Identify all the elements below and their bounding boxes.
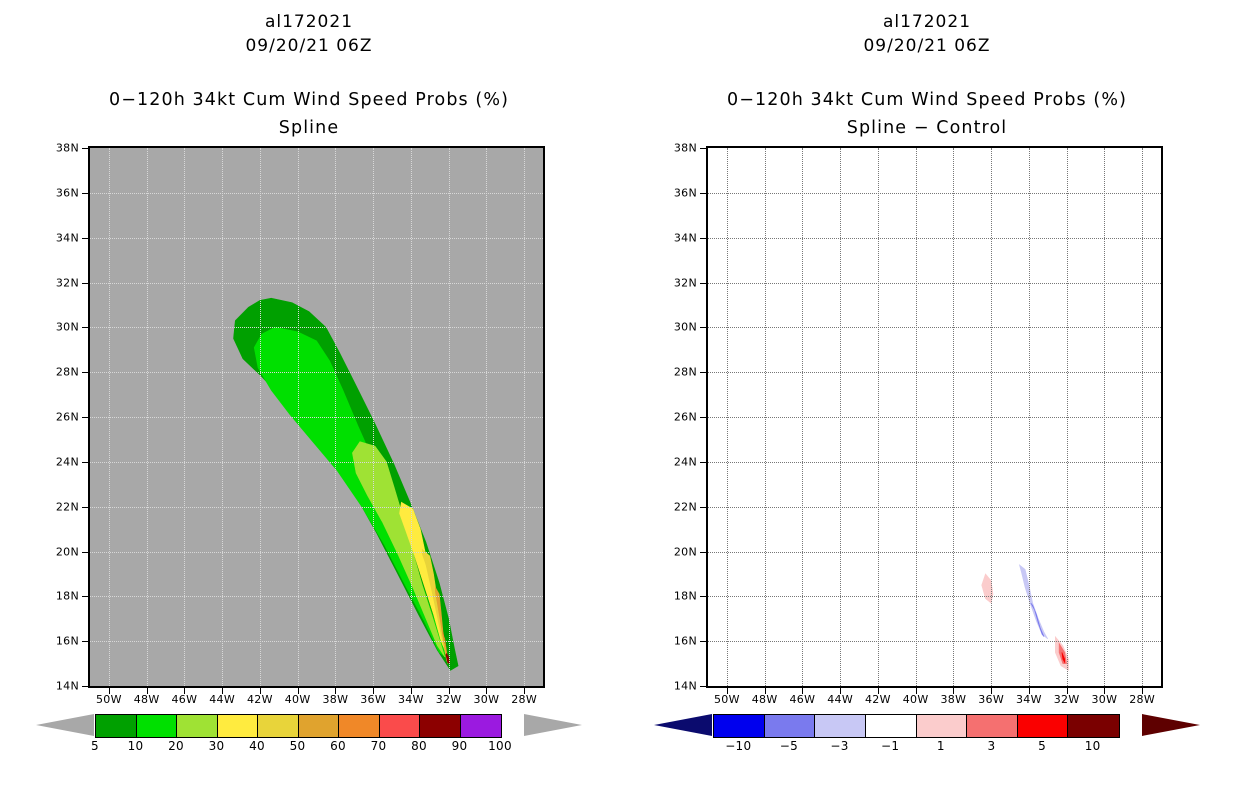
x-axis-tick-32W [1067,688,1068,694]
gridline-lon-34 [1029,148,1030,686]
gridline-lon-36 [373,148,374,686]
x-axis-label-48W: 48W [134,693,160,706]
y-axis-tick-24N [82,462,88,463]
colorbar-tick-minus5: −5 [780,739,798,753]
colorbar-right-arrow [524,714,582,736]
panel-spline: al172021 09/20/21 06Z 0−120h 34kt Cum Wi… [0,0,618,800]
y-axis-label-22N: 22N [56,500,79,513]
y-axis-tick-18N [700,596,706,597]
gridline-lon-42 [260,148,261,686]
gridline-lon-46 [184,148,185,686]
map-plot-spline[interactable] [88,146,545,688]
gridline-lat-32 [708,283,1161,284]
x-axis-label-32W: 32W [436,693,462,706]
y-axis-label-36N: 36N [674,186,697,199]
gridline-lon-48 [147,148,148,686]
y-axis-tick-22N [82,507,88,508]
x-axis-label-38W: 38W [940,693,966,706]
colorbar-tick-5: 5 [1038,739,1046,753]
x-axis-tick-38W [953,688,954,694]
y-axis-label-32N: 32N [56,276,79,289]
gridline-lon-44 [840,148,841,686]
y-axis-tick-38N [700,148,706,149]
x-axis-tick-30W [486,688,487,694]
colorbar-tick-5: 5 [91,739,99,753]
gridline-lat-18 [90,596,543,597]
x-axis-tick-46W [802,688,803,694]
gridline-lon-32 [1067,148,1068,686]
colorbar-cells-probability[interactable] [95,714,502,738]
x-axis-label-34W: 34W [398,693,424,706]
colorbar-swatch-30-40[interactable] [218,715,259,737]
gridline-lat-26 [708,417,1161,418]
y-axis-label-26N: 26N [674,411,697,424]
y-axis-label-36N: 36N [56,186,79,199]
x-axis-label-42W: 42W [247,693,273,706]
y-axis-tick-30N [700,327,706,328]
colorbar-tick-70: 70 [371,739,387,753]
x-axis-label-40W: 40W [903,693,929,706]
gridline-lon-50 [109,148,110,686]
gridline-lon-48 [765,148,766,686]
colorbar-swatch-40-50[interactable] [258,715,299,737]
x-axis-tick-48W [147,688,148,694]
colorbar-tick-60: 60 [330,739,346,753]
y-axis-tick-14N [82,686,88,687]
colorbar-tick-100: 100 [488,739,512,753]
x-axis-tick-50W [109,688,110,694]
gridline-lat-30 [90,327,543,328]
y-axis-label-18N: 18N [674,590,697,603]
gridline-lon-30 [486,148,487,686]
map-plot-difference[interactable] [706,146,1163,688]
colorbar-swatch-20-30[interactable] [177,715,218,737]
colorbar-tick-3: 3 [987,739,995,753]
y-axis-tick-26N [82,417,88,418]
colorbar-swatch-3-5[interactable] [967,715,1018,737]
contour-band-20-30 [352,442,444,657]
x-axis-label-46W: 46W [171,693,197,706]
gridline-lat-18 [708,596,1161,597]
y-axis-label-24N: 24N [56,455,79,468]
datetime-right: 09/20/21 06Z [618,36,1236,56]
gridline-lat-34 [708,238,1161,239]
x-axis-tick-46W [184,688,185,694]
x-axis-label-42W: 42W [865,693,891,706]
gridline-lat-36 [90,193,543,194]
y-axis-label-22N: 22N [674,500,697,513]
x-axis-label-28W: 28W [511,693,537,706]
colorbar-swatch--3--1[interactable] [815,715,866,737]
y-axis-label-28N: 28N [56,366,79,379]
x-axis-tick-30W [1104,688,1105,694]
y-axis-tick-14N [700,686,706,687]
colorbar-swatch-5-10[interactable] [1018,715,1069,737]
gridline-lat-32 [90,283,543,284]
x-axis-label-48W: 48W [752,693,778,706]
chart-title-left: 0−120h 34kt Cum Wind Speed Probs (%) [0,90,618,110]
x-axis-tick-42W [878,688,879,694]
x-axis-tick-28W [1142,688,1143,694]
x-axis-label-44W: 44W [209,693,235,706]
y-axis-tick-24N [700,462,706,463]
gridline-lon-34 [411,148,412,686]
colorbar-left-arrow-diff [654,714,712,736]
gridline-lon-36 [991,148,992,686]
y-axis-tick-36N [82,193,88,194]
colorbar-swatch-60-70[interactable] [339,715,380,737]
x-axis-tick-48W [765,688,766,694]
y-axis-label-38N: 38N [56,142,79,155]
gridline-lat-26 [90,417,543,418]
storm-id-left: al172021 [0,12,618,32]
panel-spline-minus-control: al172021 09/20/21 06Z 0−120h 34kt Cum Wi… [618,0,1236,800]
y-axis-label-14N: 14N [56,680,79,693]
gridline-lat-28 [708,372,1161,373]
y-axis-label-16N: 16N [56,635,79,648]
y-axis-tick-32N [82,283,88,284]
gridline-lon-38 [335,148,336,686]
colorbar-swatch--1-1[interactable] [866,715,917,737]
gridline-lat-30 [708,327,1161,328]
gridline-lon-40 [298,148,299,686]
x-axis-tick-42W [260,688,261,694]
colorbar-difference[interactable]: −10−5−3−113510 [618,714,1236,774]
colorbar-cells-difference[interactable] [713,714,1120,738]
colorbar-swatch-10+[interactable] [1068,715,1119,737]
gridline-lat-24 [708,462,1161,463]
x-axis-label-34W: 34W [1016,693,1042,706]
gridline-lat-22 [708,507,1161,508]
colorbar-swatch-5-10[interactable] [96,715,137,737]
y-axis-label-24N: 24N [674,455,697,468]
x-axis-tick-36W [373,688,374,694]
gridline-lat-20 [708,552,1161,553]
chart-title-right: 0−120h 34kt Cum Wind Speed Probs (%) [618,90,1236,110]
x-axis-tick-44W [222,688,223,694]
colorbar-swatch-10-20[interactable] [137,715,178,737]
colorbar-swatch-80-90[interactable] [420,715,461,737]
colorbar-tick-minus10: −10 [725,739,751,753]
y-axis-label-32N: 32N [674,276,697,289]
x-axis-label-32W: 32W [1054,693,1080,706]
colorbar-tick-90: 90 [452,739,468,753]
gridline-lon-40 [916,148,917,686]
colorbar-tick-40: 40 [249,739,265,753]
colorbar-tick-20: 20 [168,739,184,753]
gridline-lon-28 [524,148,525,686]
colorbar-tick-10: 10 [1085,739,1101,753]
x-axis-label-36W: 36W [360,693,386,706]
colorbar-tick-80: 80 [411,739,427,753]
gridline-lon-30 [1104,148,1105,686]
x-axis-tick-40W [298,688,299,694]
y-axis-label-20N: 20N [674,545,697,558]
colorbar-tick-50: 50 [290,739,306,753]
x-axis-label-30W: 30W [473,693,499,706]
y-axis-label-14N: 14N [674,680,697,693]
y-axis-label-30N: 30N [56,321,79,334]
y-axis-label-26N: 26N [56,411,79,424]
y-axis-label-34N: 34N [56,231,79,244]
storm-id-right: al172021 [618,12,1236,32]
gridline-lat-34 [90,238,543,239]
y-axis-label-16N: 16N [674,635,697,648]
gridline-lat-24 [90,462,543,463]
colorbar-ticks-difference: −10−5−3−113510 [618,739,1236,759]
y-axis-tick-34N [82,238,88,239]
x-axis-tick-36W [991,688,992,694]
x-axis-tick-40W [916,688,917,694]
gridline-lon-42 [878,148,879,686]
y-axis-tick-20N [82,552,88,553]
y-axis-tick-26N [700,417,706,418]
colorbar-tick-minus1: −1 [881,739,899,753]
x-axis-tick-34W [411,688,412,694]
x-axis-label-36W: 36W [978,693,1004,706]
x-axis-label-28W: 28W [1129,693,1155,706]
x-axis-tick-28W [524,688,525,694]
gridline-lat-28 [90,372,543,373]
colorbar-left-arrow [36,714,94,736]
colorbar-probability[interactable]: 5102030405060708090100 [0,714,618,774]
colorbar-swatch-90-100[interactable] [461,715,502,737]
y-axis-label-28N: 28N [674,366,697,379]
y-axis-tick-22N [700,507,706,508]
gridline-lat-20 [90,552,543,553]
colorbar-tick-10: 10 [128,739,144,753]
y-axis-label-38N: 38N [674,142,697,155]
colorbar-swatch--10--5[interactable] [714,715,765,737]
y-axis-tick-36N [700,193,706,194]
y-axis-tick-30N [82,327,88,328]
gridline-lon-46 [802,148,803,686]
colorbar-swatch-70-80[interactable] [380,715,421,737]
y-axis-tick-20N [700,552,706,553]
gridline-lat-36 [708,193,1161,194]
y-axis-label-20N: 20N [56,545,79,558]
colorbar-tick-1: 1 [937,739,945,753]
x-axis-tick-44W [840,688,841,694]
colorbar-ticks-probability: 5102030405060708090100 [0,739,618,759]
y-axis-tick-32N [700,283,706,284]
datetime-left: 09/20/21 06Z [0,36,618,56]
x-axis-tick-38W [335,688,336,694]
chart-subtitle-right: Spline − Control [618,118,1236,138]
x-axis-label-30W: 30W [1091,693,1117,706]
colorbar-swatch--5--3[interactable] [765,715,816,737]
x-axis-tick-32W [449,688,450,694]
x-axis-tick-34W [1029,688,1030,694]
gridline-lat-16 [708,641,1161,642]
y-axis-tick-16N [700,641,706,642]
gridline-lat-16 [90,641,543,642]
gridline-lon-50 [727,148,728,686]
y-axis-label-34N: 34N [674,231,697,244]
y-axis-tick-16N [82,641,88,642]
gridline-lon-28 [1142,148,1143,686]
contour-band--3--1 [1019,565,1047,639]
gridline-lat-22 [90,507,543,508]
chart-subtitle-left: Spline [0,118,618,138]
y-axis-label-18N: 18N [56,590,79,603]
x-axis-label-44W: 44W [827,693,853,706]
y-axis-tick-38N [82,148,88,149]
colorbar-tick-30: 30 [209,739,225,753]
colorbar-right-arrow-diff [1142,714,1200,736]
x-axis-label-50W: 50W [96,693,122,706]
y-axis-tick-28N [82,372,88,373]
y-axis-tick-18N [82,596,88,597]
y-axis-label-30N: 30N [674,321,697,334]
x-axis-tick-50W [727,688,728,694]
colorbar-tick-minus3: −3 [830,739,848,753]
gridline-lon-38 [953,148,954,686]
gridline-lon-44 [222,148,223,686]
x-axis-label-40W: 40W [285,693,311,706]
colorbar-swatch-1-3[interactable] [917,715,968,737]
colorbar-swatch-50-60[interactable] [299,715,340,737]
x-axis-label-50W: 50W [714,693,740,706]
y-axis-tick-28N [700,372,706,373]
x-axis-label-38W: 38W [322,693,348,706]
x-axis-label-46W: 46W [789,693,815,706]
gridline-lon-32 [449,148,450,686]
y-axis-tick-34N [700,238,706,239]
